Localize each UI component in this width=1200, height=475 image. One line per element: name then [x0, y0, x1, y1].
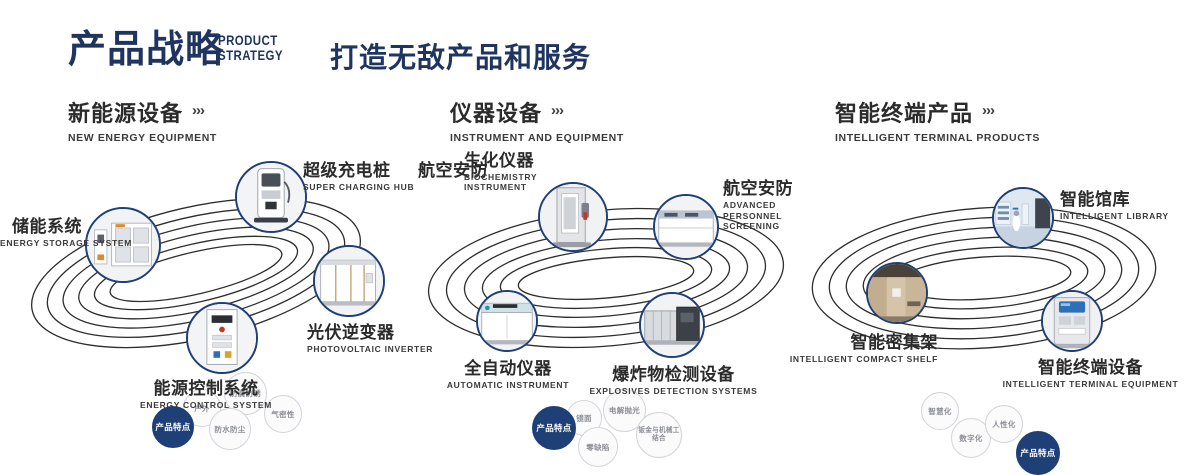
label-intelligent-compact-shelf: 智能密集架 INTELLIGENT COMPACT SHELF [748, 328, 938, 365]
node-label-en: ENERGY CONTROL SYSTEM [90, 400, 322, 410]
node-label-en: INTELLIGENT TERMINAL EQUIPMENT [983, 379, 1198, 389]
section-heading-cn: 新能源设备 [68, 96, 183, 128]
library-interior-photo [994, 189, 1052, 247]
pv-inverter-photo [315, 247, 383, 315]
explosives-detector-photo [641, 294, 703, 356]
section-heading-intelligent-terminal: 智能终端产品››› INTELLIGENT TERMINAL PRODUCTS [835, 96, 1040, 144]
product-strategy-infographic: 产品战略 PRODUCT STRATEGY 打造无敌产品和服务 新能源设备›››… [0, 0, 1200, 422]
node-label-en: EXPLOSIVES DETECTION SYSTEMS [576, 386, 771, 396]
label-energy-control-system: 能源控制系统 ENERGY CONTROL SYSTEM [90, 374, 322, 410]
feature-bubble: 防水防尘 [209, 408, 251, 450]
node-label-en: INTELLIGENT COMPACT SHELF [748, 354, 938, 365]
node-label-cn: 全自动仪器 [418, 354, 598, 379]
node-label-en: INTELLIGENT LIBRARY [1060, 211, 1169, 221]
chevron-right-icon: ››› [551, 102, 563, 119]
node-label-cn: 生化仪器 [464, 146, 556, 171]
node-intelligent-library[interactable] [992, 187, 1054, 249]
label-automatic-instrument: 全自动仪器 AUTOMATIC INSTRUMENT [418, 354, 598, 390]
cluster-instrument: 镜面 电解抛光 零缺陷 钣金与机械工结合 产品特点 航空安防 生化仪器 BIOC… [398, 150, 818, 410]
screening-machine-photo [655, 196, 717, 258]
node-intelligent-terminal-equipment[interactable] [1041, 290, 1103, 352]
node-label-cn: 智能终端设备 [983, 353, 1198, 378]
chevron-right-icon: ››› [192, 102, 204, 119]
section-heading-cn: 仪器设备 [450, 96, 542, 128]
section-heading-en: INSTRUMENT AND EQUIPMENT [450, 132, 624, 144]
node-label-cn: 智能密集架 [748, 328, 938, 353]
core-bubble: 产品特点 [152, 406, 194, 448]
node-advanced-personnel-screening[interactable] [653, 194, 719, 260]
chevron-right-icon: ››› [982, 102, 994, 119]
biochem-instrument-photo [540, 184, 606, 250]
section-heading-en: NEW ENERGY EQUIPMENT [68, 132, 217, 144]
automatic-instrument-photo [478, 292, 536, 350]
compact-shelf-photo [868, 264, 926, 322]
page-title-english: PRODUCT STRATEGY [218, 33, 283, 63]
feature-bubble: 智慧化 [921, 392, 959, 430]
node-automatic-instrument[interactable] [476, 290, 538, 352]
page-title: 产品战略 [68, 28, 224, 72]
node-intelligent-compact-shelf[interactable] [866, 262, 928, 324]
core-bubble: 产品特点 [532, 406, 576, 450]
control-cabinet-photo [188, 304, 256, 372]
node-label-en: BIOCHEMISTRY INSTRUMENT [464, 172, 556, 192]
charging-pile-photo [237, 163, 305, 231]
page-subtitle: 打造无敌产品和服务 [330, 36, 591, 76]
node-biochemistry-instrument[interactable] [538, 182, 608, 252]
node-label-cn: 爆炸物检测设备 [576, 360, 771, 385]
feature-bubble: 人性化 [985, 405, 1023, 443]
kiosk-terminal-photo [1043, 292, 1101, 350]
node-label-en: ENERGY STORAGE SYSTEM [0, 238, 82, 248]
cluster-intelligent-terminal: 智慧化 数字化 人性化 产品特点 智能馆库 INTELLIGENT LIBRAR… [788, 150, 1200, 410]
label-intelligent-library: 智能馆库 INTELLIGENT LIBRARY [1060, 185, 1169, 221]
node-label-cn: 储能系统 [0, 212, 82, 237]
node-energy-control-system[interactable] [186, 302, 258, 374]
page-header: 产品战略 PRODUCT STRATEGY 打造无敌产品和服务 [0, 0, 1200, 88]
core-bubble: 产品特点 [1016, 431, 1060, 475]
label-explosives-detection-systems: 爆炸物检测设备 EXPLOSIVES DETECTION SYSTEMS [576, 360, 771, 396]
node-label-en: AUTOMATIC INSTRUMENT [418, 380, 598, 390]
node-photovoltaic-inverter[interactable] [313, 245, 385, 317]
feature-bubble: 钣金与机械工结合 [636, 412, 682, 458]
section-heading-new-energy: 新能源设备››› NEW ENERGY EQUIPMENT [68, 96, 217, 144]
node-label-cn: 能源控制系统 [90, 374, 322, 399]
page-title-english-line1: PRODUCT [218, 33, 283, 48]
page-title-english-line2: STRATEGY [218, 48, 283, 63]
feature-bubble: 零缺陷 [578, 427, 618, 467]
label-biochemistry-instrument: 生化仪器 BIOCHEMISTRY INSTRUMENT [464, 146, 556, 192]
label-intelligent-terminal-equipment: 智能终端设备 INTELLIGENT TERMINAL EQUIPMENT [983, 353, 1198, 389]
node-explosives-detection-systems[interactable] [639, 292, 705, 358]
section-heading-instrument: 仪器设备››› INSTRUMENT AND EQUIPMENT [450, 96, 624, 144]
section-heading-cn: 智能终端产品 [835, 96, 973, 128]
label-energy-storage-system: 储能系统 ENERGY STORAGE SYSTEM [0, 212, 82, 248]
section-heading-en: INTELLIGENT TERMINAL PRODUCTS [835, 132, 1040, 144]
cluster-new-energy: 户外 防腐防锈 防水防尘 气密性 产品特点 储能系统 ENERGY STORAG… [0, 150, 420, 410]
node-super-charging-hub[interactable] [235, 161, 307, 233]
node-label-cn: 智能馆库 [1060, 185, 1169, 210]
